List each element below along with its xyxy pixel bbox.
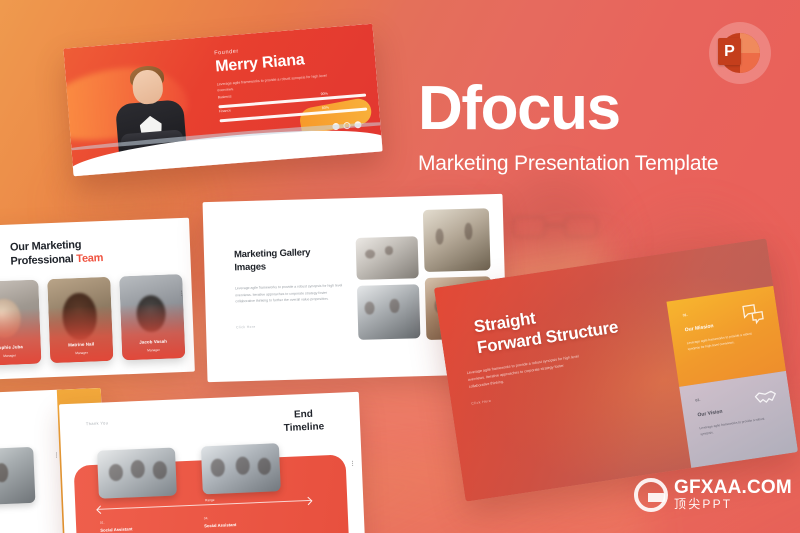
team-card[interactable]: Jacob Vasah Manager [119,274,185,360]
timeline-kicker: Thank You [86,420,109,426]
panel-text: Leverage agile frameworks to provide a r… [687,332,754,353]
team-title-accent: Team [76,252,103,265]
founder-copy: Founder Merry Riana Leverage agile frame… [214,39,368,128]
g-logo-icon [634,478,668,512]
panel-number: 01. [682,313,688,318]
team-title-line1: Our Marketing [10,239,82,254]
gallery-photo[interactable] [356,236,419,280]
gallery-title: Marketing Gallery Images [234,246,345,274]
timeline-item-number: 04. [204,515,236,520]
background-glasses-icon [512,214,598,240]
badge-letter: P [724,44,735,60]
panel-heading: Our Mission [684,323,713,333]
watermark: GFXAA.COM 顶尖PPT [634,478,792,512]
handshake-icon [752,385,779,412]
timeline-photo[interactable] [97,448,177,499]
timeline-photo[interactable] [201,443,281,494]
structure-panel-vision[interactable]: 02. Our Vision Leverage agile frameworks… [679,371,798,468]
poster-canvas: Founder Merry Riana Leverage agile frame… [0,0,800,533]
slide-team[interactable]: Our Marketing Professional Team Sophie J… [0,218,195,381]
timeline-title: End Timeline [283,407,324,435]
team-card[interactable]: Matrine Nail Manager [47,277,113,363]
chat-bubble-icon [739,299,766,326]
timeline-title-line2: Timeline [284,421,325,434]
gallery-link[interactable]: Click Here [236,325,256,330]
structure-panel-mission[interactable]: 01. Our Mission Leverage agile framework… [666,286,786,387]
slide-founder[interactable]: Founder Merry Riana Leverage agile frame… [63,24,382,176]
watermark-site: GFXAA.COM [674,478,792,498]
team-title-line2: Professional [10,253,73,267]
watermark-text: GFXAA.COM 顶尖PPT [674,478,792,512]
panel-heading: Our Vision [697,409,723,419]
timeline-item-number: 01. [100,519,132,524]
powerpoint-icon: P [709,22,771,84]
skill-bars: 90% Business 80% Finance [218,88,367,122]
team-cards: Sophie Juba Manager Matrine Nail Manager… [0,274,185,366]
slide-nav-dots-icon[interactable]: ⋮ [350,462,356,466]
gallery-photo[interactable] [423,208,491,272]
timeline-item: 01. Social Assistant [100,519,133,532]
slide-timeline[interactable]: Thank You End Timeline Range 01. Social … [59,392,365,533]
gallery-body: Leverage agile frameworks to provide a r… [235,282,348,305]
gallery-title-line2: Images [234,261,266,273]
timeline-item: 04. Social Assistant [204,515,237,528]
gallery-title-line1: Marketing Gallery [234,247,311,260]
team-title: Our Marketing Professional Team [10,237,104,269]
gallery-photo[interactable] [357,284,420,340]
watermark-tagline: 顶尖PPT [674,498,792,512]
panel-text: Leverage agile frameworks to provide a r… [699,417,766,438]
page-title: Dfocus Marketing Presentation Template [418,78,786,176]
headline-subtitle: Marketing Presentation Template [418,152,786,176]
slide-nav-dots-icon[interactable]: ⋮ [179,292,185,296]
team-card[interactable]: Sophie Juba Manager [0,280,41,366]
badge-document: P [718,38,741,65]
panel-number: 02. [695,398,701,403]
timeline-title-line1: End [294,409,313,421]
partial-slide-photo [0,447,35,506]
headline-title: Dfocus [418,78,786,140]
timeline-middle-label: Range [205,498,215,502]
